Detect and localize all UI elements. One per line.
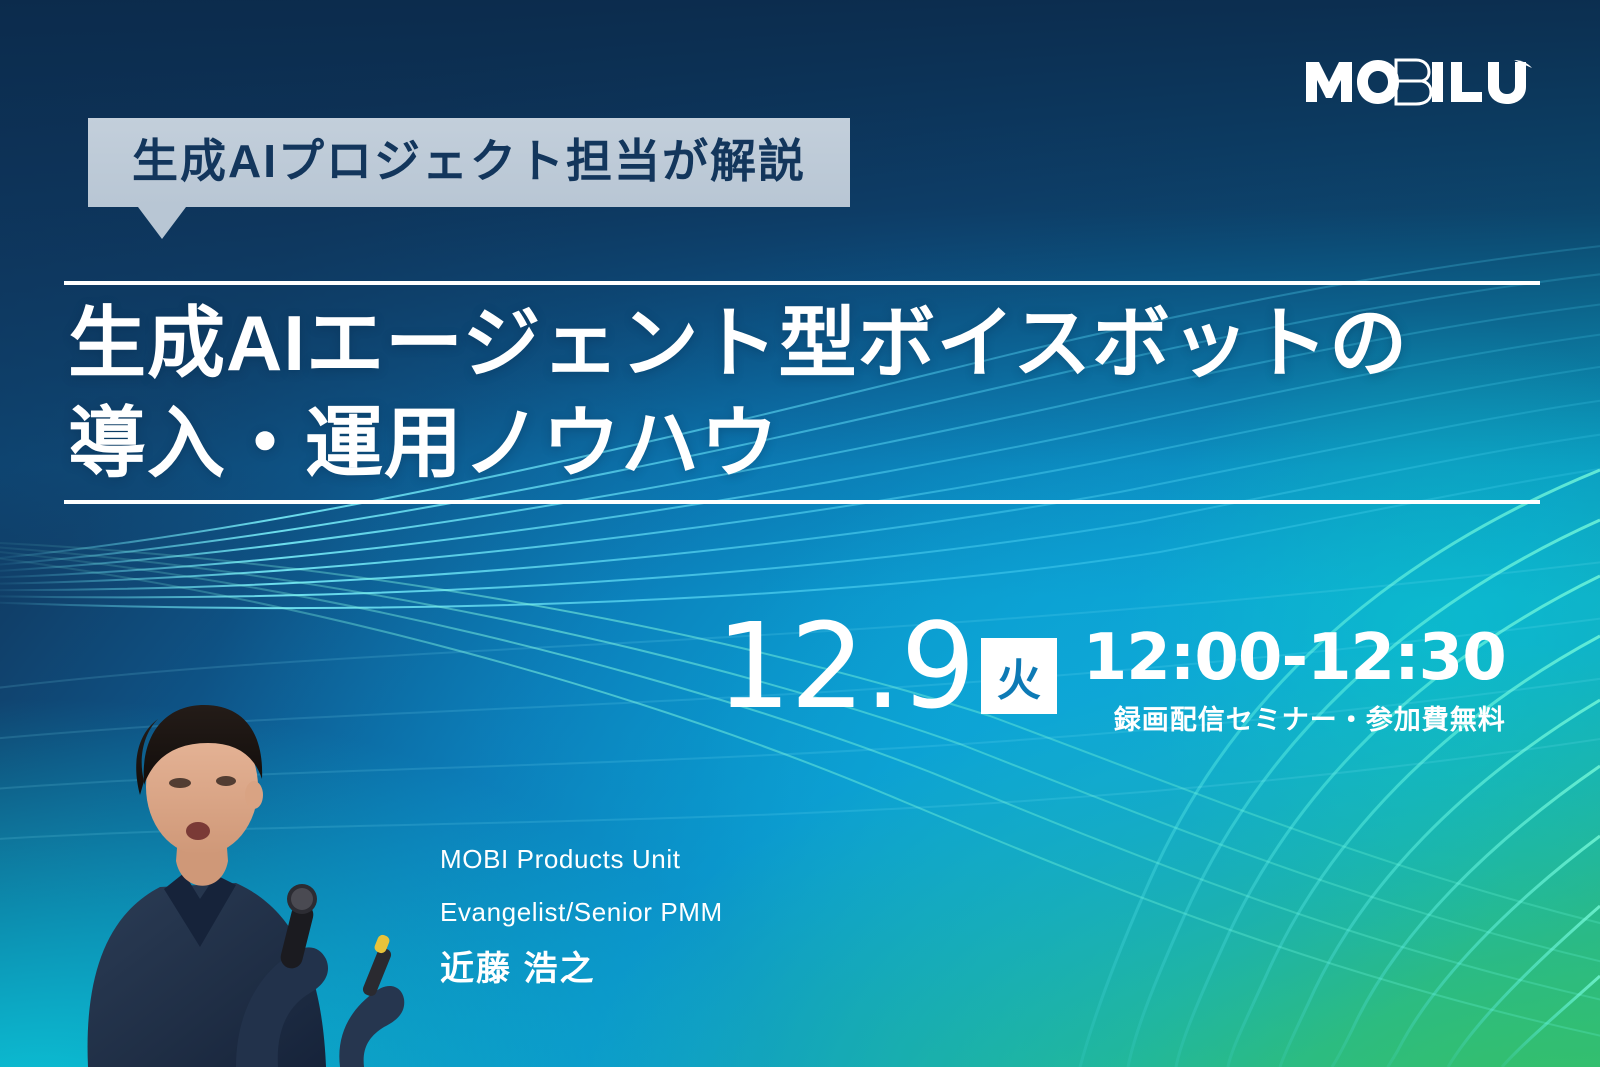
eyebrow-badge: 生成AIプロジェクト担当が解説 xyxy=(88,118,850,239)
event-time-block: 12:00-12:30 録画配信セミナー・参加費無料 xyxy=(1083,626,1506,737)
event-weekday-badge: 火 xyxy=(981,638,1057,714)
speaker-role: Evangelist/Senior PMM xyxy=(440,899,723,925)
title-rule-bottom xyxy=(64,500,1540,504)
event-time-range: 12:00-12:30 xyxy=(1083,626,1506,690)
speaker-block: MOBI Products Unit Evangelist/Senior PMM… xyxy=(440,846,723,986)
eyebrow-badge-box: 生成AIプロジェクト担当が解説 xyxy=(88,118,850,207)
page-title: 生成AIエージェント型ボイスボットの 導入・運用ノウハウ xyxy=(68,294,1548,494)
presenter-photo xyxy=(40,647,440,1067)
mobilus-logo: MOBILUS xyxy=(1304,56,1536,106)
event-date: 12.9 xyxy=(716,610,975,722)
title-rule-top xyxy=(64,281,1540,285)
speaker-org: MOBI Products Unit xyxy=(440,846,723,872)
mobilus-logo-text: MOBILUS xyxy=(1304,56,1536,106)
eyebrow-badge-tail xyxy=(138,207,186,239)
event-note: 録画配信セミナー・参加費無料 xyxy=(1083,698,1506,737)
speaker-name: 近藤 浩之 xyxy=(440,952,723,986)
eyebrow-badge-text: 生成AIプロジェクト担当が解説 xyxy=(132,136,806,187)
title-line-2: 導入・運用ノウハウ xyxy=(68,394,1548,494)
webinar-banner: MOBILUS 生成AIプロジェクト担当が解説 生成AIエージェント型ボイスボッ… xyxy=(0,0,1600,1067)
title-line-1: 生成AIエージェント型ボイスボットの xyxy=(68,294,1548,394)
schedule-block: 12.9 火 12:00-12:30 録画配信セミナー・参加費無料 xyxy=(716,610,1506,737)
